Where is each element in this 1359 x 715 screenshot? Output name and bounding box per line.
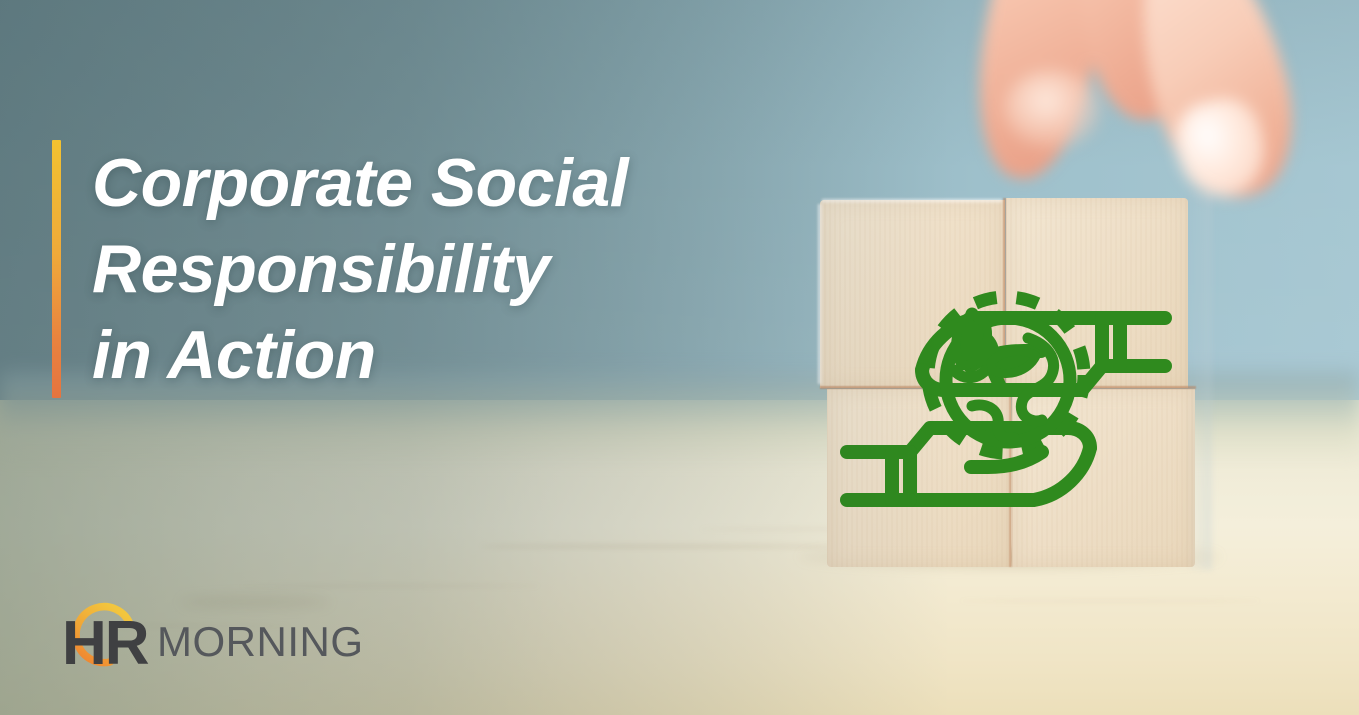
logo-word-text: MORNING xyxy=(157,618,364,665)
hrmorning-logo[interactable]: HR MORNING xyxy=(50,598,380,680)
headline-block: Corporate Social Responsibility in Actio… xyxy=(52,140,628,398)
logo-mark-text: HR xyxy=(62,609,149,678)
banner-canvas: Corporate Social Responsibility in Actio… xyxy=(0,0,1359,715)
page-title: Corporate Social Responsibility in Actio… xyxy=(92,140,628,398)
logo-graphic: HR MORNING xyxy=(50,598,380,680)
accent-bar xyxy=(52,140,61,398)
